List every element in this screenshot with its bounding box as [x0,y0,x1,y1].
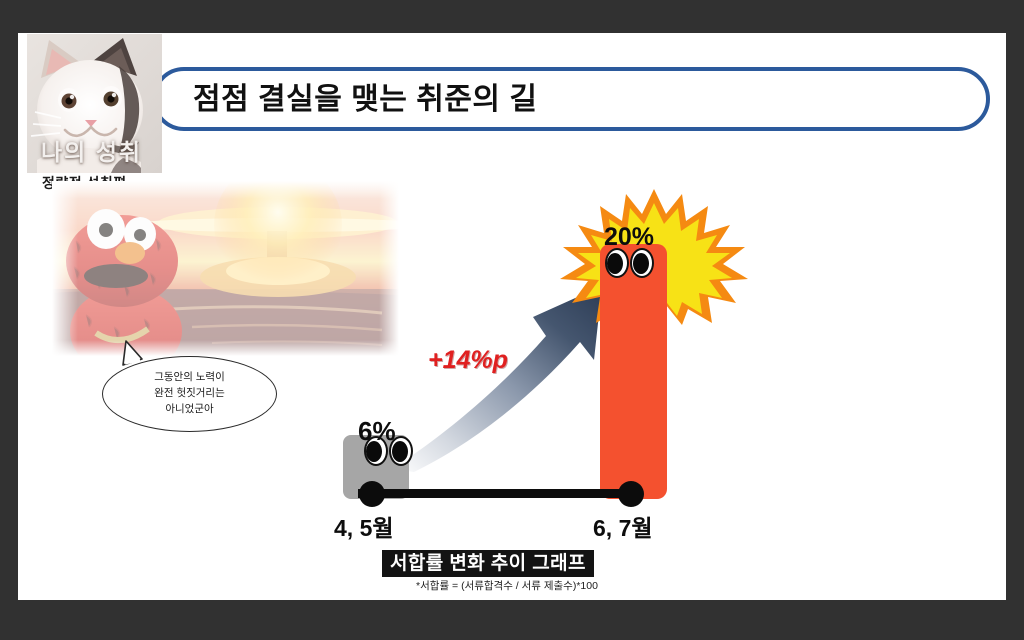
value-label-jun-jul: 20% [604,223,654,252]
bar-eyes-jun-jul [605,248,665,282]
value-label-apr-may: 6% [358,416,396,447]
screenshot-root: 점점 결실을 맺는 취준의 길 [0,0,1024,640]
axis-dot-apr-may [359,481,385,507]
slide-canvas: 점점 결실을 맺는 취준의 길 [18,33,1006,600]
axis-dot-jun-jul [618,481,644,507]
axis-connector-line [358,489,643,498]
delta-annotation: +14%p [428,346,508,375]
category-label-jun-jul: 6, 7월 [593,509,653,543]
bar-jun-jul [600,244,667,499]
pupil-right [633,253,649,274]
chart-title-banner: 서합률 변화 추이 그래프 [382,550,594,577]
pupil-left [607,253,623,274]
category-label-apr-may: 4, 5월 [334,509,394,543]
chart-footnote: *서합률 = (서류합격수 / 서류 제출수)*100 [382,578,632,593]
bar-chart: 6% 20% 4, 5월 6, 7월 +14%p 서합률 변화 추이 그래프 *… [18,33,1006,600]
